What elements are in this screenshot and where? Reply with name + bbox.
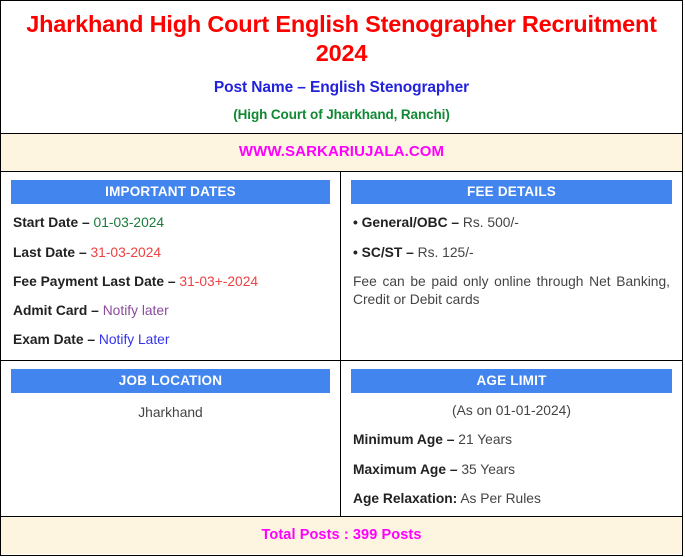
recruitment-poster: Jharkhand High Court English Stenographe… <box>0 0 683 556</box>
exam-date-label: Exam Date – <box>13 332 95 347</box>
list-item: Last Date – 31-03-2024 <box>13 244 328 261</box>
age-limit-body: (As on 01-01-2024) Minimum Age – 21 Year… <box>351 393 672 507</box>
general-obc-fee-value: Rs. 500/- <box>463 215 519 230</box>
maximum-age-label: Maximum Age – <box>353 462 458 477</box>
important-dates-body: Start Date – 01-03-2024 Last Date – 31-0… <box>11 204 330 348</box>
panel-age-limit: AGE LIMIT (As on 01-01-2024) Minimum Age… <box>341 361 682 516</box>
list-item: Start Date – 01-03-2024 <box>13 214 328 231</box>
panel-heading-important-dates: IMPORTANT DATES <box>11 180 330 204</box>
job-location-value: Jharkhand <box>13 403 328 420</box>
list-item: Age Relaxation: As Per Rules <box>353 490 670 507</box>
admit-card-value: Notify later <box>103 303 169 318</box>
general-obc-fee-label: • General/OBC – <box>353 215 459 230</box>
site-banner: WWW.SARKARIUJALA.COM <box>1 134 682 171</box>
job-location-body: Jharkhand <box>11 393 330 420</box>
fee-payment-last-date-label: Fee Payment Last Date – <box>13 274 176 289</box>
age-relaxation-value: As Per Rules <box>460 491 541 506</box>
list-item: Admit Card – Notify later <box>13 302 328 319</box>
maximum-age-value: 35 Years <box>461 462 515 477</box>
age-as-on-date: (As on 01-01-2024) <box>353 403 670 418</box>
list-item: Fee Payment Last Date – 31-03+-2024 <box>13 273 328 290</box>
authority-subtitle: (High Court of Jharkhand, Ranchi) <box>13 107 670 122</box>
exam-date-value: Notify Later <box>99 332 170 347</box>
panel-row-bottom: JOB LOCATION Jharkhand AGE LIMIT (As on … <box>1 361 682 516</box>
fee-details-body: • General/OBC – Rs. 500/- • SC/ST – Rs. … <box>351 204 672 309</box>
page-title: Jharkhand High Court English Stenographe… <box>13 10 670 67</box>
minimum-age-label: Minimum Age – <box>353 432 454 447</box>
site-url-text[interactable]: WWW.SARKARIUJALA.COM <box>239 143 444 160</box>
list-item: • General/OBC – Rs. 500/- <box>353 214 670 231</box>
minimum-age-value: 21 Years <box>458 432 512 447</box>
last-date-value: 31-03-2024 <box>90 245 161 260</box>
panel-heading-fee-details: FEE DETAILS <box>351 180 672 204</box>
last-date-label: Last Date – <box>13 245 87 260</box>
footer-banner: Total Posts : 399 Posts <box>1 517 682 554</box>
total-posts-text: Total Posts : 399 Posts <box>262 527 422 543</box>
panel-heading-age-limit: AGE LIMIT <box>351 369 672 393</box>
panel-row-top: IMPORTANT DATES Start Date – 01-03-2024 … <box>1 172 682 360</box>
list-item: Maximum Age – 35 Years <box>353 461 670 478</box>
start-date-label: Start Date – <box>13 215 90 230</box>
start-date-value: 01-03-2024 <box>94 215 165 230</box>
panel-fee-details: FEE DETAILS • General/OBC – Rs. 500/- • … <box>341 172 682 360</box>
list-item: Minimum Age – 21 Years <box>353 431 670 448</box>
panel-job-location: JOB LOCATION Jharkhand <box>1 361 341 516</box>
fee-payment-note: Fee can be paid only online through Net … <box>353 273 670 309</box>
sc-st-fee-value: Rs. 125/- <box>418 245 474 260</box>
age-relaxation-label: Age Relaxation: <box>353 491 457 506</box>
poster-header: Jharkhand High Court English Stenographe… <box>1 1 682 133</box>
list-item: Exam Date – Notify Later <box>13 331 328 348</box>
panel-heading-job-location: JOB LOCATION <box>11 369 330 393</box>
sc-st-fee-label: • SC/ST – <box>353 245 414 260</box>
panel-important-dates: IMPORTANT DATES Start Date – 01-03-2024 … <box>1 172 341 360</box>
list-item: • SC/ST – Rs. 125/- <box>353 244 670 261</box>
admit-card-label: Admit Card – <box>13 303 99 318</box>
fee-payment-last-date-value: 31-03+-2024 <box>179 274 258 289</box>
post-name-subtitle: Post Name – English Stenographer <box>13 79 670 97</box>
